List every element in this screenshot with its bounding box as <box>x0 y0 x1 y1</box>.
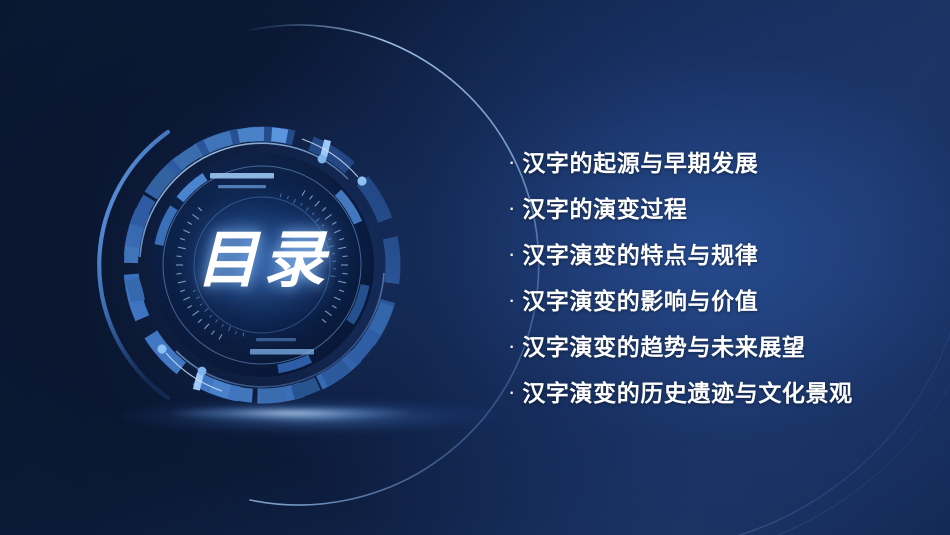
bullet-dot-icon: · <box>508 243 515 265</box>
agenda-list: · 汉字的起源与早期发展 · 汉字的演变过程 · 汉字演变的特点与规律 · 汉字… <box>508 144 928 420</box>
agenda-item-2[interactable]: · 汉字的演变过程 <box>508 190 928 236</box>
ring-node-b <box>198 367 207 376</box>
agenda-item-1[interactable]: · 汉字的起源与早期发展 <box>508 144 928 190</box>
agenda-item-label: 汉字的起源与早期发展 <box>522 144 758 178</box>
bullet-dot-icon: · <box>508 151 515 173</box>
agenda-item-label: 汉字演变的特点与规律 <box>522 236 758 270</box>
bullet-dot-icon: · <box>508 381 515 403</box>
agenda-item-3[interactable]: · 汉字演变的特点与规律 <box>508 236 928 282</box>
agenda-item-5[interactable]: · 汉字演变的趋势与未来展望 <box>508 328 928 374</box>
agenda-item-label: 汉字演变的趋势与未来展望 <box>522 328 805 362</box>
agenda-item-label: 汉字演变的影响与价值 <box>522 282 758 316</box>
bullet-dot-icon: · <box>508 335 515 357</box>
agenda-item-6[interactable]: · 汉字演变的历史遗迹与文化景观 <box>508 374 928 420</box>
agenda-item-label: 汉字的演变过程 <box>522 190 687 224</box>
slide-canvas: 目录 · 汉字的起源与早期发展 · 汉字的演变过程 · 汉字演变的特点与规律 ·… <box>0 0 950 535</box>
page-title: 目录 <box>132 228 394 294</box>
agenda-item-label: 汉字演变的历史遗迹与文化景观 <box>522 374 852 408</box>
bullet-dot-icon: · <box>508 197 515 219</box>
agenda-item-4[interactable]: · 汉字演变的影响与价值 <box>508 282 928 328</box>
bullet-dot-icon: · <box>508 289 515 311</box>
ring-node-a <box>318 155 327 164</box>
